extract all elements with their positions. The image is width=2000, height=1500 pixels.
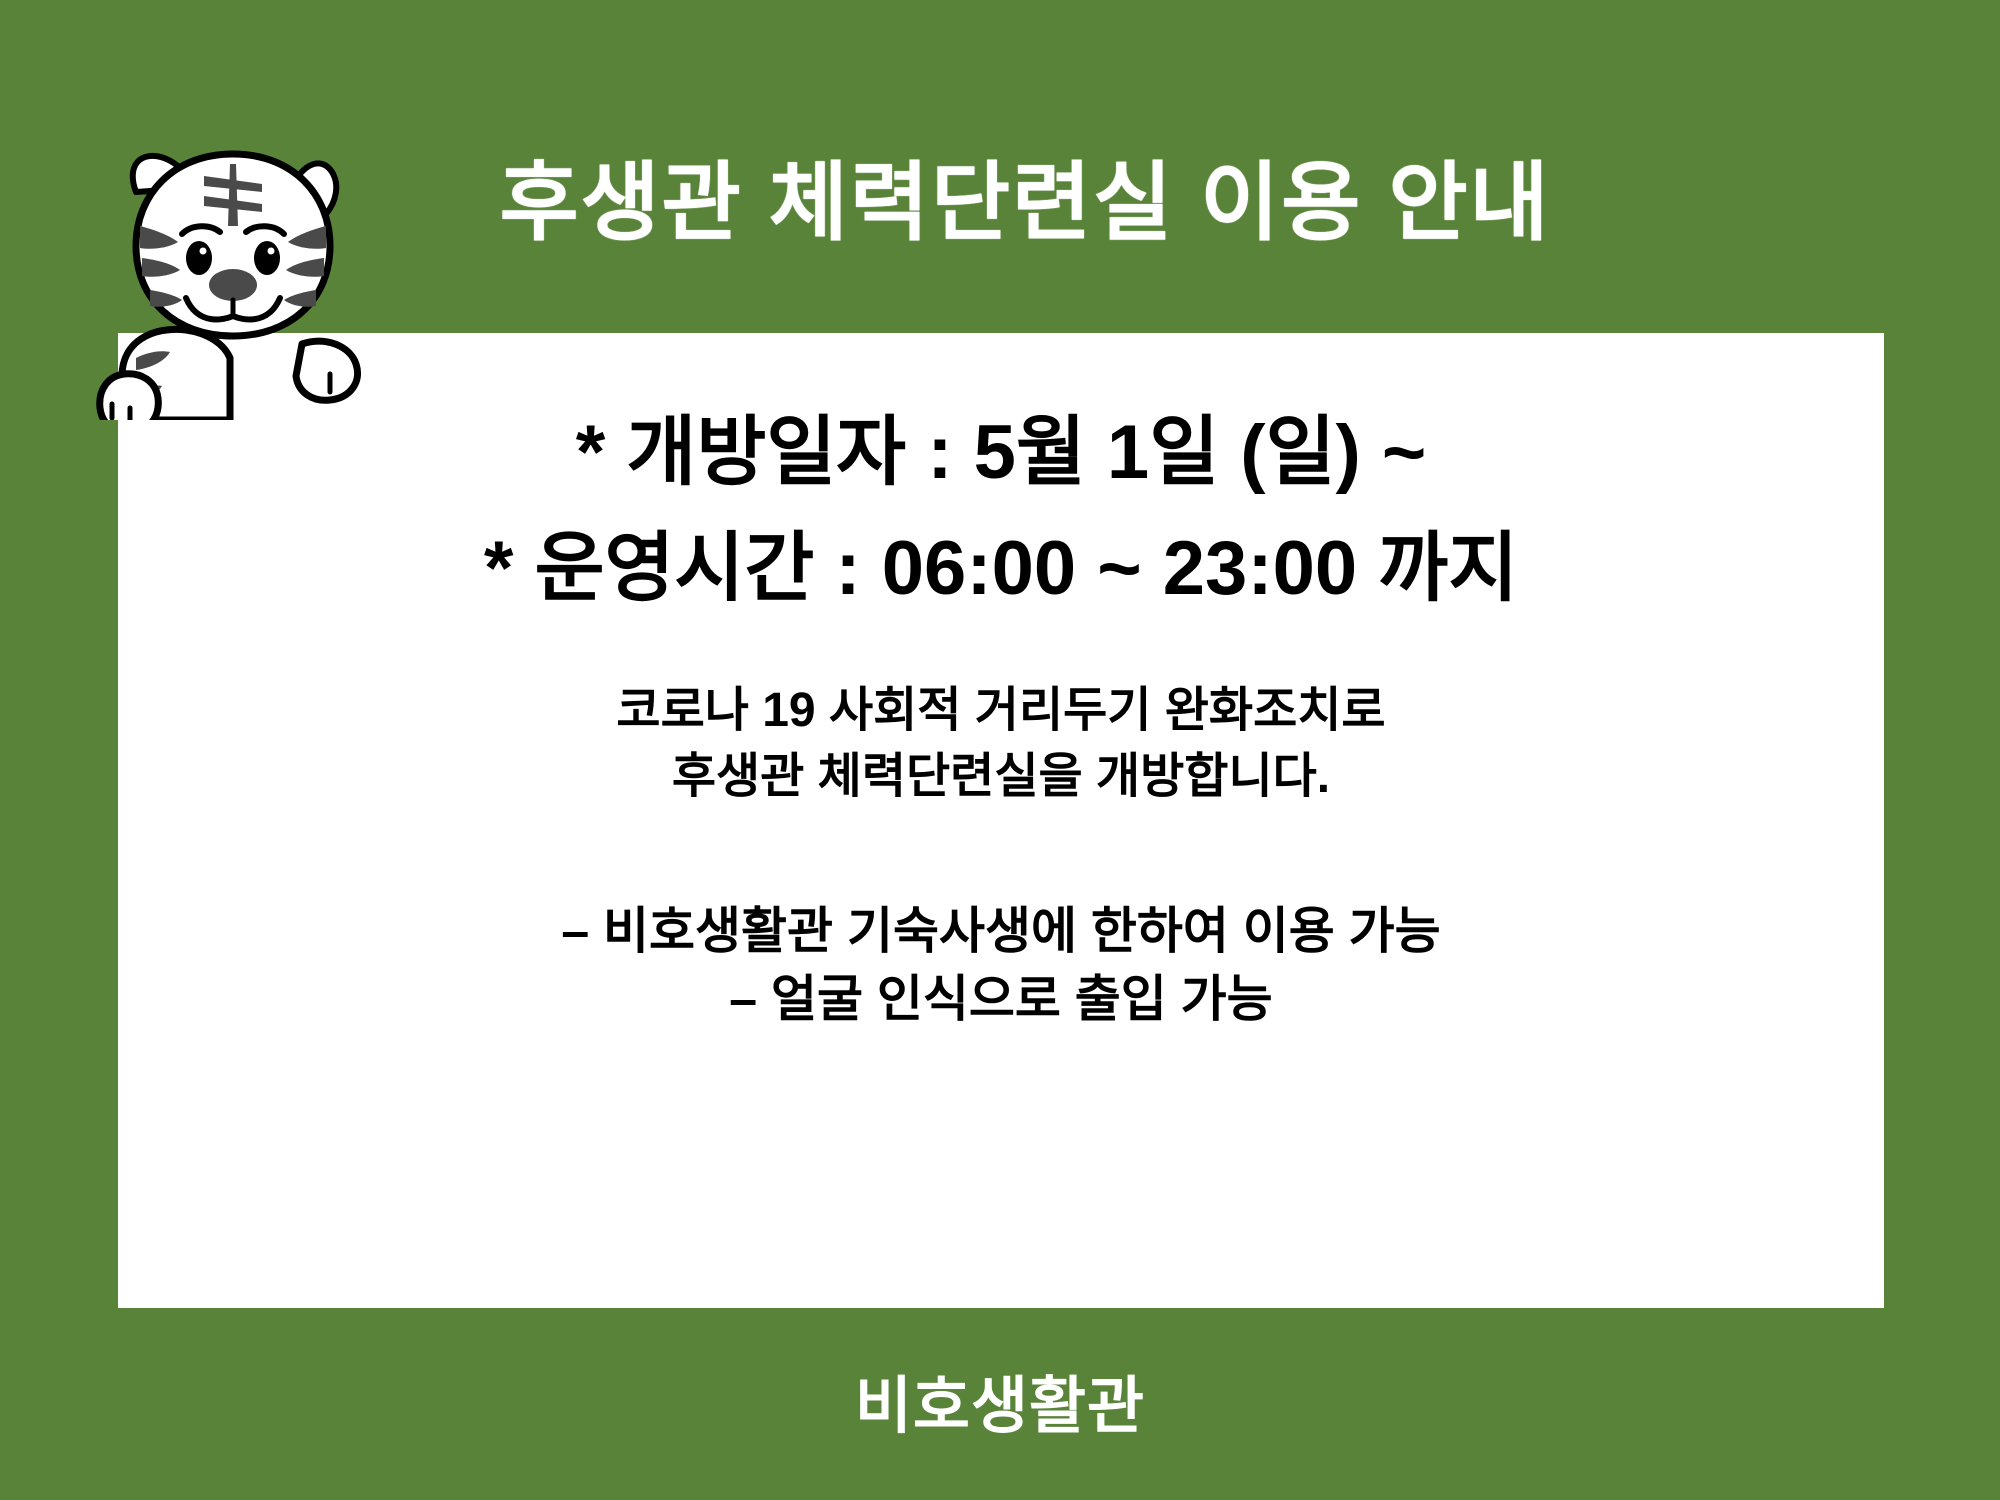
paragraph-line-2: 후생관 체력단련실을 개방합니다. — [616, 744, 1385, 810]
content-card: * 개방일자 : 5월 1일 (일) ~ * 운영시간 : 06:00 ~ 23… — [118, 333, 1884, 1308]
notice-bullets: – 비호생활관 기숙사생에 한하여 이용 가능 – 얼굴 인식으로 출입 가능 — [561, 897, 1440, 1033]
notice-poster: 후생관 체력단련실 이용 안내 * 개방일자 : 5월 1일 (일) ~ * 운… — [0, 0, 2000, 1500]
footer-organization: 비호생활관 — [0, 1355, 2000, 1445]
headline-group: * 개방일자 : 5월 1일 (일) ~ * 운영시간 : 06:00 ~ 23… — [484, 395, 1518, 626]
notice-paragraph: 코로나 19 사회적 거리두기 완화조치로 후생관 체력단련실을 개방합니다. — [616, 678, 1385, 810]
bullet-item-residents-only: – 비호생활관 기숙사생에 한하여 이용 가능 — [561, 897, 1440, 965]
headline-operating-hours: * 운영시간 : 06:00 ~ 23:00 까지 — [484, 511, 1518, 627]
white-tiger-mascot — [78, 130, 398, 420]
paragraph-line-1: 코로나 19 사회적 거리두기 완화조치로 — [616, 678, 1385, 744]
headline-open-date: * 개방일자 : 5월 1일 (일) ~ — [484, 395, 1518, 511]
bullet-item-face-recognition: – 얼굴 인식으로 출입 가능 — [561, 965, 1440, 1033]
